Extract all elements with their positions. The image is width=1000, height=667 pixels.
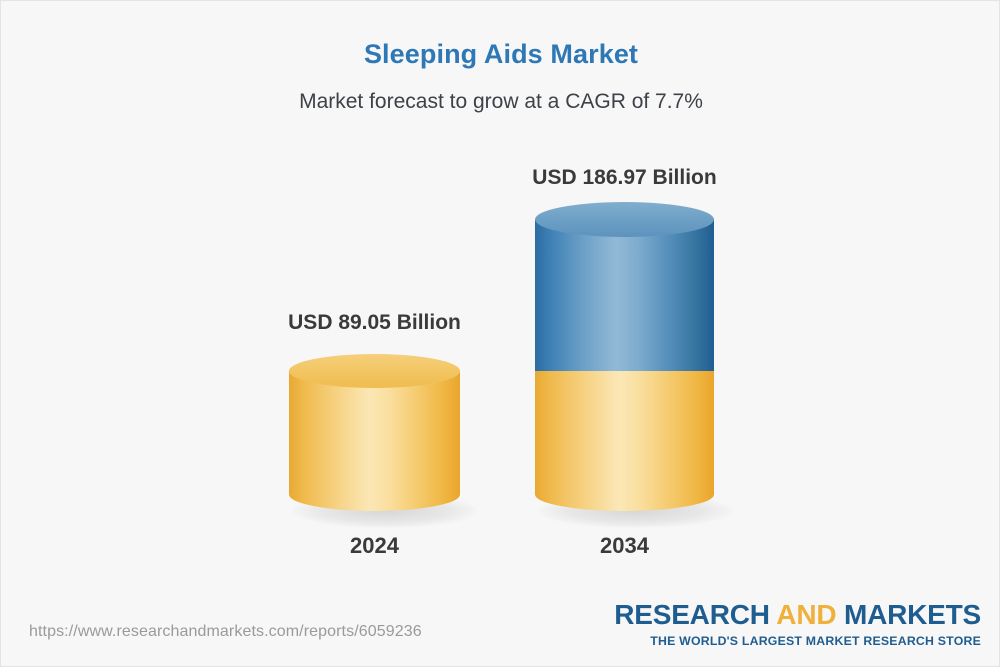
bar-2024-body [289, 371, 460, 495]
chart-canvas: Sleeping Aids Market Market forecast to … [0, 0, 1000, 667]
bar-2024-cap [289, 354, 460, 388]
brand-logo[interactable]: RESEARCH AND MARKETS THE WORLD'S LARGEST… [614, 601, 981, 648]
bar-value-label-2024: USD 89.05 Billion [254, 311, 495, 335]
bar-2034-body-lower [535, 371, 714, 495]
report-url[interactable]: https://www.researchandmarkets.com/repor… [29, 623, 422, 641]
logo-word-research: RESEARCH [614, 599, 770, 630]
logo-tagline: THE WORLD'S LARGEST MARKET RESEARCH STOR… [614, 634, 981, 648]
category-label-2034: 2034 [535, 533, 714, 559]
logo-word-and: AND [776, 599, 836, 630]
category-label-2024: 2024 [289, 533, 460, 559]
bar-value-label-2034: USD 186.97 Billion [496, 166, 753, 190]
plot-area: USD 89.05 Billion USD 186.97 Billion 202… [1, 1, 1000, 667]
bar-2034-bottom [535, 478, 714, 511]
bar-2034-cap [535, 202, 714, 237]
logo-wordmark: RESEARCH AND MARKETS [614, 601, 981, 629]
bar-2024-bottom [289, 478, 460, 511]
bar-2034-body-upper [535, 219, 714, 376]
logo-word-markets: MARKETS [844, 599, 981, 630]
